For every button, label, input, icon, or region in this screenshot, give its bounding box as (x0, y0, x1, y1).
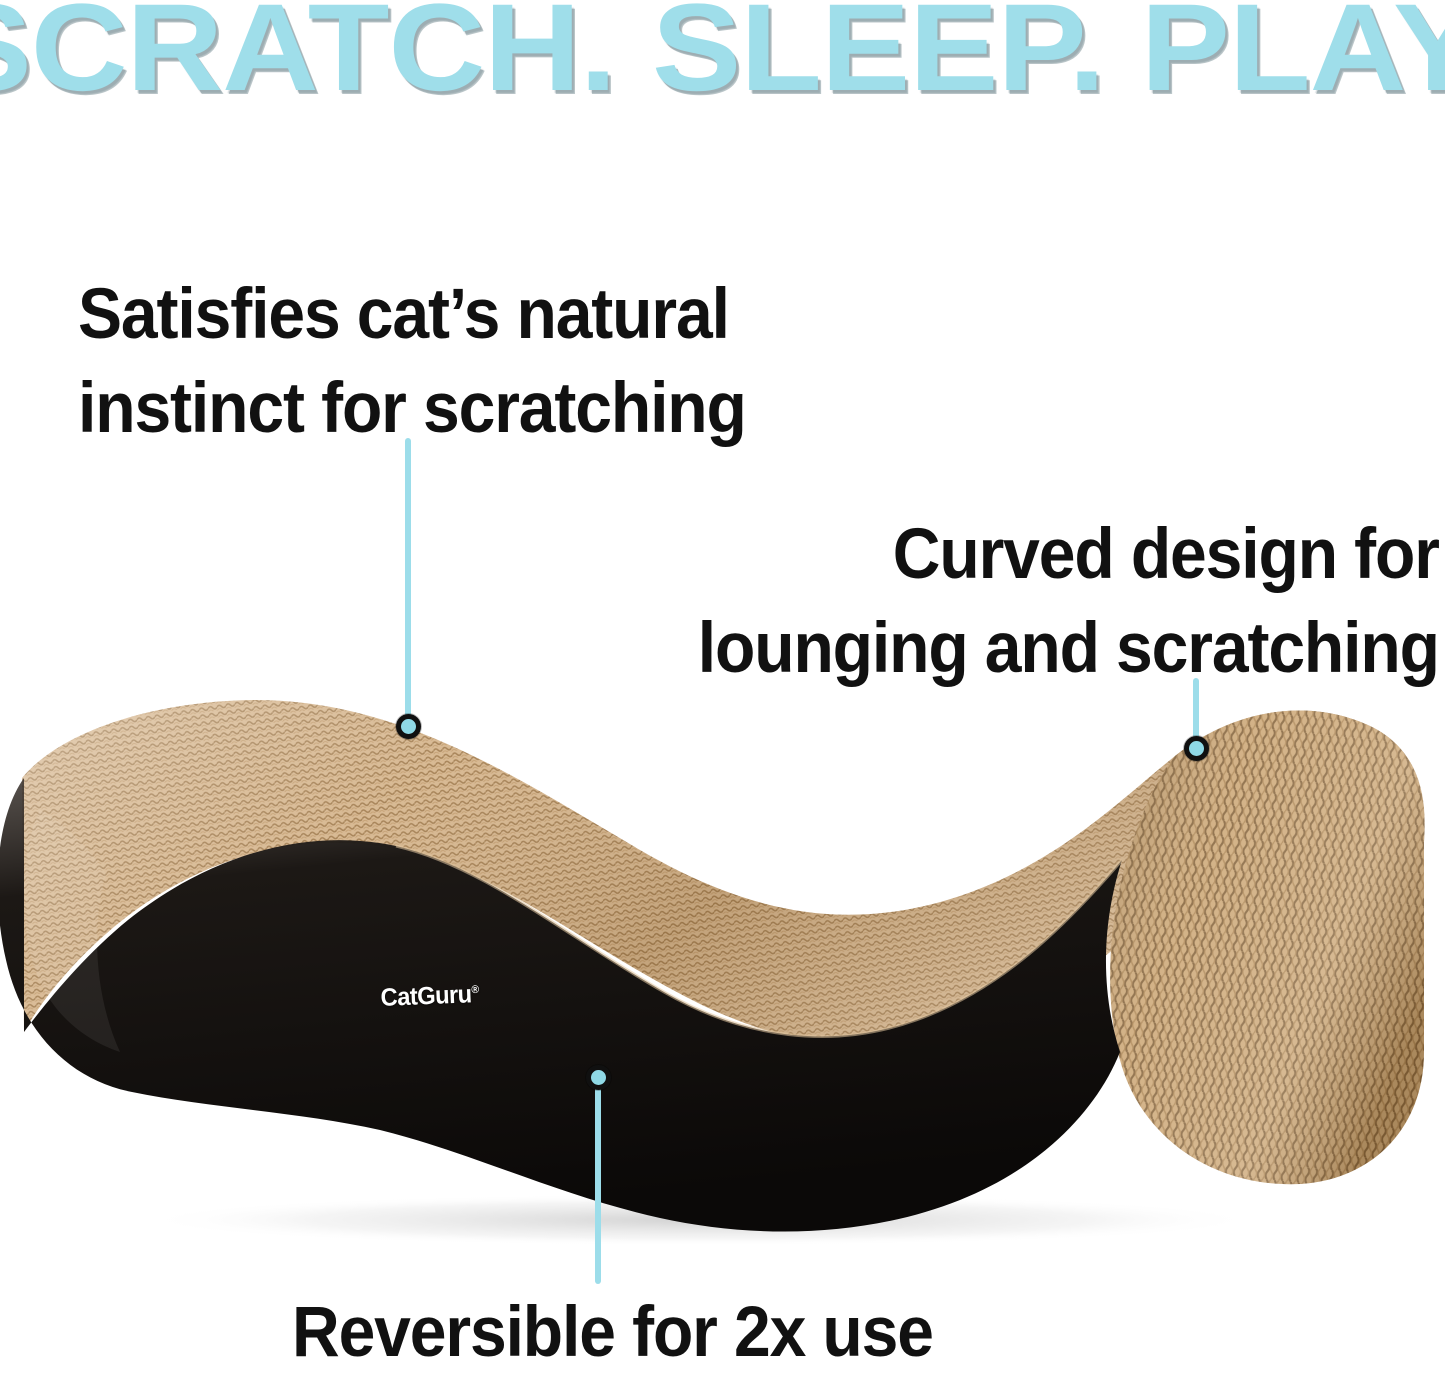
product-image (0, 660, 1445, 1240)
leader-dot-reversible-use (586, 1065, 611, 1090)
callout-satisfies-scratching: Satisfies cat’s natural instinct for scr… (78, 268, 746, 457)
infographic-canvas: SCRATCH. SLEEP. PLAY. (0, 0, 1445, 1347)
leader-dot-curved-design (1184, 736, 1209, 761)
brand-logo-text: CatGuru (380, 980, 472, 1011)
callout-reversible-use: Reversible for 2x use (292, 1286, 933, 1380)
leader-line-satisfies-scratching (405, 438, 411, 728)
leader-line-reversible-use (595, 1086, 601, 1284)
callout-curved-design: Curved design for lounging and scratchin… (698, 508, 1439, 697)
page-headline: SCRATCH. SLEEP. PLAY. (0, 0, 1445, 110)
leader-dot-satisfies-scratching (396, 714, 421, 739)
brand-registered-mark: ® (471, 984, 479, 996)
brand-logo: CatGuru® (380, 980, 479, 1013)
